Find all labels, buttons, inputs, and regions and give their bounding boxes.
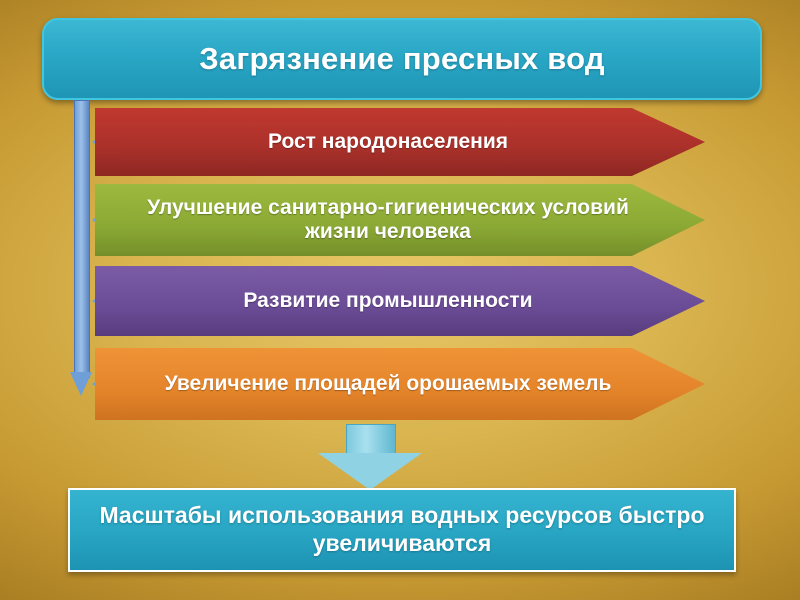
conclusion-box: Масштабы использования водных ресурсов б… <box>68 488 736 572</box>
vertical-connector <box>70 100 92 400</box>
factor-box-4: Увеличение площадей орошаемых земель <box>95 348 705 420</box>
factor-box-1: Рост народонаселения <box>95 108 705 176</box>
factor-box-3: Развитие промышленности <box>95 266 705 336</box>
title-banner: Загрязнение пресных вод <box>42 18 762 100</box>
factor-label-4: Увеличение площадей орошаемых земель <box>165 372 612 396</box>
down-arrow-icon <box>318 424 422 490</box>
factor-box-2: Улучшение санитарно-гигиенических услови… <box>95 184 705 256</box>
factor-label-3: Развитие промышленности <box>243 289 532 313</box>
slide-canvas: Загрязнение пресных вод Рост народонасел… <box>0 0 800 600</box>
page-title: Загрязнение пресных вод <box>199 41 604 77</box>
down-arrow-shaft <box>346 424 396 455</box>
connector-arrow-down-icon <box>70 372 92 396</box>
down-arrow-head <box>318 453 422 490</box>
connector-bar <box>74 100 90 378</box>
factor-label-2: Улучшение санитарно-гигиенических услови… <box>117 196 659 245</box>
factor-label-1: Рост народонаселения <box>268 130 508 154</box>
conclusion-label: Масштабы использования водных ресурсов б… <box>70 502 734 557</box>
